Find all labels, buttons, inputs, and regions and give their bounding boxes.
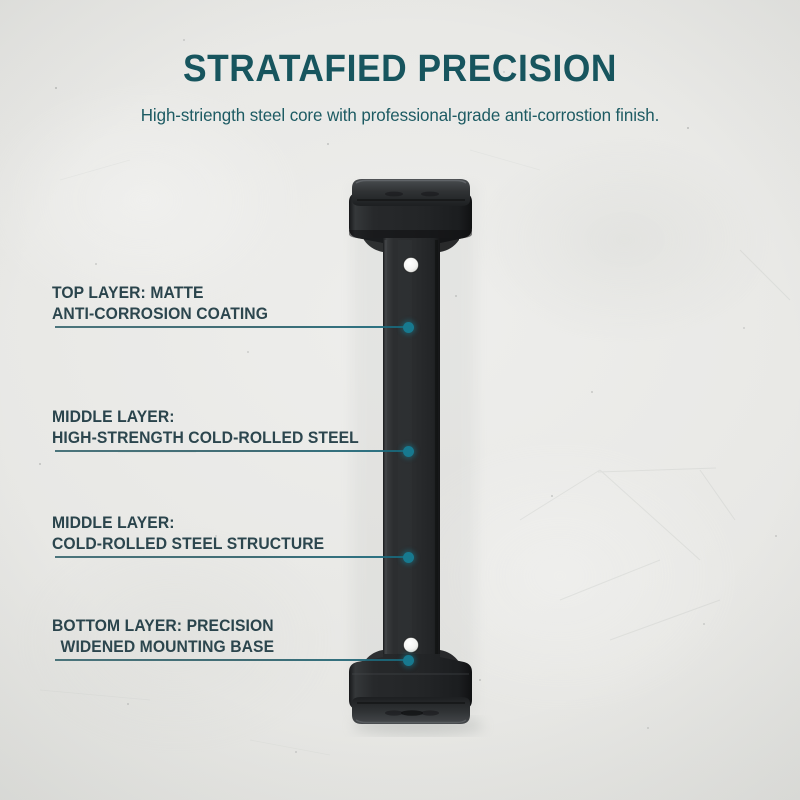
product-bottom-cap-recess-center <box>401 710 423 716</box>
callout-top-layer-line1: TOP LAYER: MATTE <box>52 283 268 304</box>
leader-bar-middle-layer-lower <box>55 556 413 558</box>
product-top-cap-recess-right <box>421 192 439 197</box>
callout-middle-layer-lower-line2: COLD-ROLLED STEEL STRUCTURE <box>52 534 324 555</box>
product-image-steel-bracket <box>0 0 800 800</box>
product-bottom-cap-recess-left <box>385 710 403 715</box>
leader-bar-middle-layer-upper <box>55 450 413 452</box>
callout-bottom-layer-line2: WIDENED MOUNTING BASE <box>52 637 274 658</box>
marker-dot-bottom-layer <box>403 655 414 666</box>
callout-bottom-layer-line1: BOTTOM LAYER: PRECISION <box>52 616 274 637</box>
callout-middle-layer-upper-line1: MIDDLE LAYER: <box>52 407 359 428</box>
leader-bar-bottom-layer <box>55 659 413 661</box>
product-top-cap-plate <box>352 179 470 206</box>
infographic-canvas: STRATAFIED PRECISION High-striength stee… <box>0 0 800 800</box>
marker-dot-top-layer <box>403 322 414 333</box>
product-column-right-shade <box>435 240 438 660</box>
callout-bottom-layer: BOTTOM LAYER: PRECISION WIDENED MOUNTING… <box>52 616 286 658</box>
marker-dot-middle-layer-lower <box>403 552 414 563</box>
product-bottom-cap-recess-right <box>421 710 439 715</box>
callout-top-layer: TOP LAYER: MATTE ANTI-CORROSION COATING <box>52 283 279 325</box>
leader-line-bottom-layer <box>55 659 413 661</box>
leader-bar-top-layer <box>55 326 413 328</box>
product-top-cap-recess-left <box>385 192 403 197</box>
callout-top-layer-line2: ANTI-CORROSION COATING <box>52 304 268 325</box>
leader-line-middle-layer-lower <box>55 556 413 558</box>
callout-middle-layer-upper: MIDDLE LAYER: HIGH-STRENGTH COLD-ROLLED … <box>52 407 375 449</box>
marker-dot-middle-layer-upper <box>403 446 414 457</box>
leader-line-top-layer <box>55 326 413 328</box>
callout-middle-layer-upper-line2: HIGH-STRENGTH COLD-ROLLED STEEL <box>52 428 359 449</box>
callout-middle-layer-lower: MIDDLE LAYER: COLD-ROLLED STEEL STRUCTUR… <box>52 513 339 555</box>
callout-middle-layer-lower-line1: MIDDLE LAYER: <box>52 513 324 534</box>
leader-line-middle-layer-upper <box>55 450 413 452</box>
